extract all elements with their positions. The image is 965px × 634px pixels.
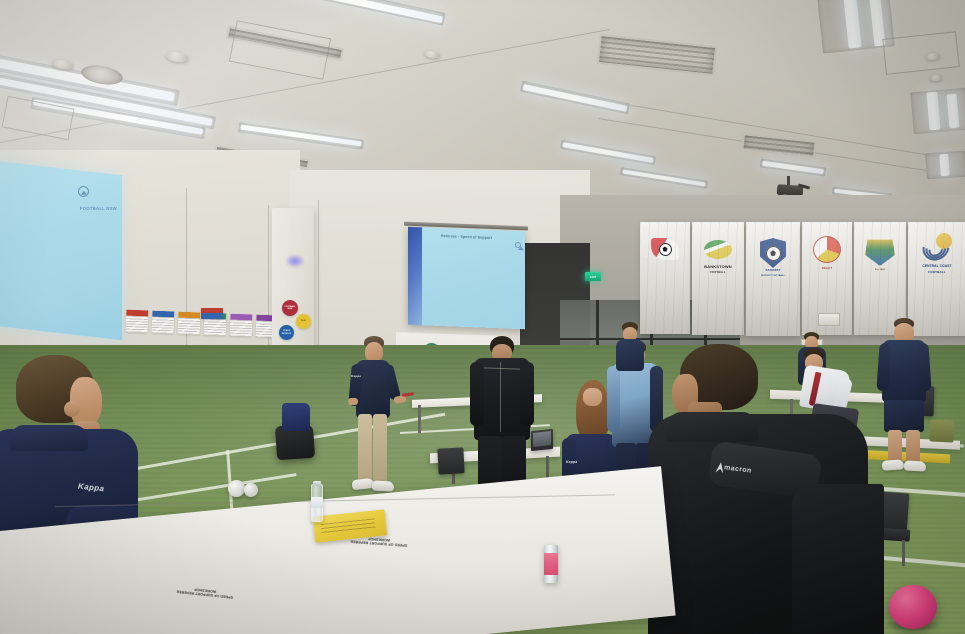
arm-right: [520, 362, 534, 426]
banner-club-sub: FOOTBALL: [928, 271, 946, 275]
bottle-cap[interactable]: [313, 481, 321, 486]
slide-logo-mark-icon: [515, 242, 521, 248]
poster-body: [152, 317, 175, 334]
football-nsw-mark-icon: [78, 186, 89, 197]
sticker-label: FOOTBALL NSW: [282, 306, 298, 311]
training-ball[interactable]: [244, 483, 258, 497]
shorts: [884, 400, 924, 432]
chair[interactable]: [437, 447, 464, 474]
training-ball[interactable]: [228, 480, 245, 497]
chair-olive[interactable]: [929, 419, 954, 442]
person-background-right: [612, 322, 648, 368]
arm-left: [607, 366, 620, 432]
banner-club-name: CENTRAL COAST: [922, 265, 951, 269]
poster-body: [204, 319, 227, 336]
banner-bankstown: BANKSTOWN FOOTBALL: [692, 222, 744, 335]
wall-poster: [152, 311, 175, 334]
sticker-label: PLAY: [301, 320, 306, 322]
laptop[interactable]: [531, 429, 553, 451]
person-presenter: Kappa: [348, 336, 406, 512]
jacket-zip: [500, 362, 501, 432]
face: [583, 388, 602, 406]
jacket-collar: [10, 425, 88, 451]
slide-logo: [515, 236, 521, 254]
presenter-shoe-left: [352, 478, 375, 490]
soccer-ball-icon: [766, 246, 781, 261]
banner-bathurst: BATHURST DISTRICT FOOTBALL: [746, 222, 800, 336]
wall-sign: [201, 308, 223, 319]
banner-1: [640, 222, 690, 334]
pink-training-ball[interactable]: [889, 585, 937, 629]
shoe-right: [904, 460, 926, 471]
arm-left: [470, 362, 484, 426]
screen-edge-glow: [408, 227, 423, 326]
football-nsw-logo-left: FOOTBALL NSW: [78, 183, 122, 199]
soccer-ball-icon: [659, 243, 672, 256]
club-crest-icon: [865, 238, 895, 266]
poster-body: [126, 316, 149, 333]
banner-club-name: BATHURST: [766, 269, 781, 273]
ear: [64, 401, 80, 417]
projector-light-spill: [286, 255, 304, 267]
wall-picture: [818, 313, 840, 326]
person-foreground-right-macron: macron: [652, 344, 882, 634]
jacket-arm: [792, 484, 884, 634]
leg-right: [906, 430, 920, 464]
sticker-dot-yellow: PLAY: [296, 314, 311, 329]
projection-screen: Referees - Speed of Support: [408, 227, 525, 329]
blue-jacket-on-chair[interactable]: [282, 403, 310, 431]
kappa-brand-logo: Kappa: [351, 374, 361, 378]
kappa-brand-logo: Kappa: [566, 460, 577, 464]
presenter-head: [365, 342, 383, 362]
sticker-dot-red: FOOTBALL NSW: [282, 300, 298, 316]
poster-body: [178, 318, 201, 335]
room-photo-scene: FOOTBALL NSW FOOTBALL NSW PLAY COACH DE: [0, 0, 965, 634]
exit-sign: EXIT: [585, 272, 601, 281]
slide-title: Referees - Speed of Support: [441, 234, 492, 240]
torso: [616, 339, 644, 371]
arm-right: [916, 343, 931, 392]
sign-band: [201, 313, 223, 319]
club-crest-icon: [813, 236, 841, 263]
club-crest-icon: [921, 232, 953, 262]
club-crest-icon: [760, 238, 786, 268]
bottle-label: [311, 497, 323, 508]
sticker-dot-blue: COACH DEVELOP: [279, 325, 294, 340]
banner-club-name: BANKSTOWN: [704, 265, 732, 269]
presenter-shoe-right: [372, 480, 394, 491]
poster-body: [230, 320, 253, 337]
banner-club-sub: REACT: [822, 267, 832, 271]
can-label: [544, 553, 558, 574]
jacket-collar: [666, 412, 758, 442]
drink-can[interactable]: [544, 545, 558, 583]
club-crest-icon: [650, 236, 680, 262]
sticker-label: COACH DEVELOP: [279, 330, 294, 335]
banner-club-sub: FOOTBALL: [710, 271, 725, 275]
football-nsw-logo-text: FOOTBALL NSW: [80, 207, 117, 212]
person-navy-polo-right: [878, 318, 932, 478]
banner-club-sub: DISTRICT FOOTBALL: [761, 275, 785, 279]
presenter-leg-left: [358, 414, 372, 482]
wall-poster: [126, 310, 149, 333]
chair-leg: [902, 540, 905, 566]
presenter-leg-right: [373, 414, 387, 484]
crest-shape: [704, 240, 732, 259]
club-crest-icon: [703, 236, 733, 263]
wall-poster: [178, 312, 201, 335]
wall-poster: [230, 314, 253, 337]
slide-surface: Referees - Speed of Support: [422, 227, 525, 329]
banner-club-sub: Est.1884: [875, 269, 885, 273]
table-leg: [418, 405, 421, 433]
presenter-hand: [348, 398, 358, 405]
exit-sign-label: EXIT: [590, 275, 596, 279]
shoe-left: [882, 459, 905, 471]
